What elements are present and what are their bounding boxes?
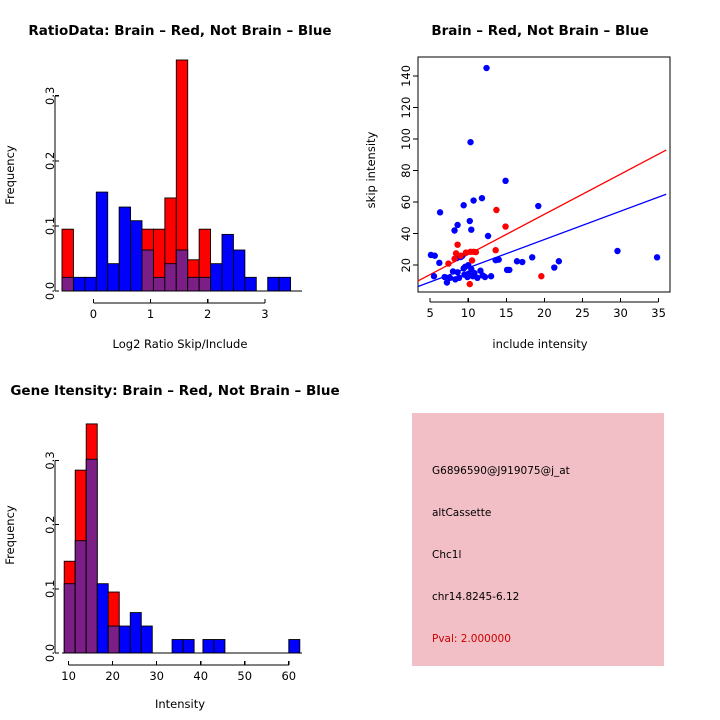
- svg-text:5: 5: [427, 306, 434, 320]
- ratio-histogram-svg: RatioData: Brain – Red, Not Brain – Blue…: [0, 0, 360, 360]
- panel-ratio-histogram: RatioData: Brain – Red, Not Brain – Blue…: [0, 0, 360, 360]
- probe-id-text: G6896590@J919075@j_at: [432, 465, 662, 507]
- svg-text:40: 40: [399, 226, 413, 241]
- svg-text:50: 50: [237, 669, 252, 683]
- svg-text:30: 30: [149, 669, 164, 683]
- pval-text: Pval: 2.000000: [432, 633, 662, 666]
- scatter-xlabel: include intensity: [492, 337, 587, 351]
- svg-text:20: 20: [105, 669, 120, 683]
- svg-text:0.1: 0.1: [43, 580, 57, 598]
- svg-text:1: 1: [147, 307, 154, 321]
- gene-histogram-plot-area: 0.00.10.20.3102030405060: [43, 424, 302, 683]
- svg-text:2: 2: [204, 307, 211, 321]
- svg-text:100: 100: [399, 128, 413, 150]
- locus-text: chr14.8245-6.12: [432, 591, 662, 633]
- svg-text:120: 120: [399, 96, 413, 118]
- svg-text:3: 3: [261, 307, 268, 321]
- panel-gene-histogram: Gene Itensity: Brain – Red, Not Brain – …: [0, 360, 360, 720]
- svg-text:60: 60: [281, 669, 296, 683]
- svg-text:80: 80: [399, 163, 413, 178]
- svg-text:0.2: 0.2: [43, 152, 57, 170]
- svg-text:140: 140: [399, 65, 413, 87]
- scatter-plot-area: 204060801001201405101520253035: [399, 57, 670, 320]
- svg-text:0.0: 0.0: [43, 644, 57, 662]
- event-type-text: altCassette: [432, 507, 662, 549]
- svg-text:35: 35: [651, 306, 666, 320]
- ratio-histogram-ylabel: Frequency: [3, 145, 17, 205]
- svg-text:20: 20: [399, 258, 413, 273]
- svg-text:10: 10: [461, 306, 476, 320]
- gene-symbol-text: Chc1l: [432, 549, 662, 591]
- svg-text:0.0: 0.0: [43, 282, 57, 300]
- scatter-ylabel: skip intensity: [364, 131, 378, 208]
- panel-intensity-scatter: Brain – Red, Not Brain – Blue include in…: [360, 0, 720, 360]
- scatter-svg: Brain – Red, Not Brain – Blue include in…: [360, 0, 720, 360]
- svg-text:15: 15: [499, 306, 514, 320]
- svg-text:0.3: 0.3: [43, 451, 57, 469]
- ratio-histogram-title: RatioData: Brain – Red, Not Brain – Blue: [28, 23, 331, 39]
- svg-text:10: 10: [61, 669, 76, 683]
- svg-text:0: 0: [90, 307, 97, 321]
- gene-histogram-ylabel: Frequency: [3, 505, 17, 565]
- svg-text:20: 20: [537, 306, 552, 320]
- gene-histogram-xlabel: Intensity: [155, 697, 205, 711]
- figure-canvas: RatioData: Brain – Red, Not Brain – Blue…: [0, 0, 720, 720]
- svg-text:0.3: 0.3: [43, 87, 57, 105]
- gene-histogram-svg: Gene Itensity: Brain – Red, Not Brain – …: [0, 360, 360, 720]
- svg-text:0.2: 0.2: [43, 516, 57, 534]
- ratio-histogram-plot-area: 0.00.10.20.30123: [43, 60, 302, 321]
- svg-text:30: 30: [613, 306, 628, 320]
- gene-histogram-title: Gene Itensity: Brain – Red, Not Brain – …: [10, 383, 339, 399]
- annotation-lines: G6896590@J919075@j_at altCassette Chc1l …: [432, 465, 662, 666]
- svg-text:0.1: 0.1: [43, 217, 57, 235]
- scatter-title: Brain – Red, Not Brain – Blue: [431, 23, 648, 39]
- svg-text:40: 40: [193, 669, 208, 683]
- ratio-histogram-xlabel: Log2 Ratio Skip/Include: [113, 337, 248, 351]
- svg-text:60: 60: [399, 195, 413, 210]
- annotation-info-box: G6896590@J919075@j_at altCassette Chc1l …: [412, 413, 664, 666]
- svg-text:25: 25: [575, 306, 590, 320]
